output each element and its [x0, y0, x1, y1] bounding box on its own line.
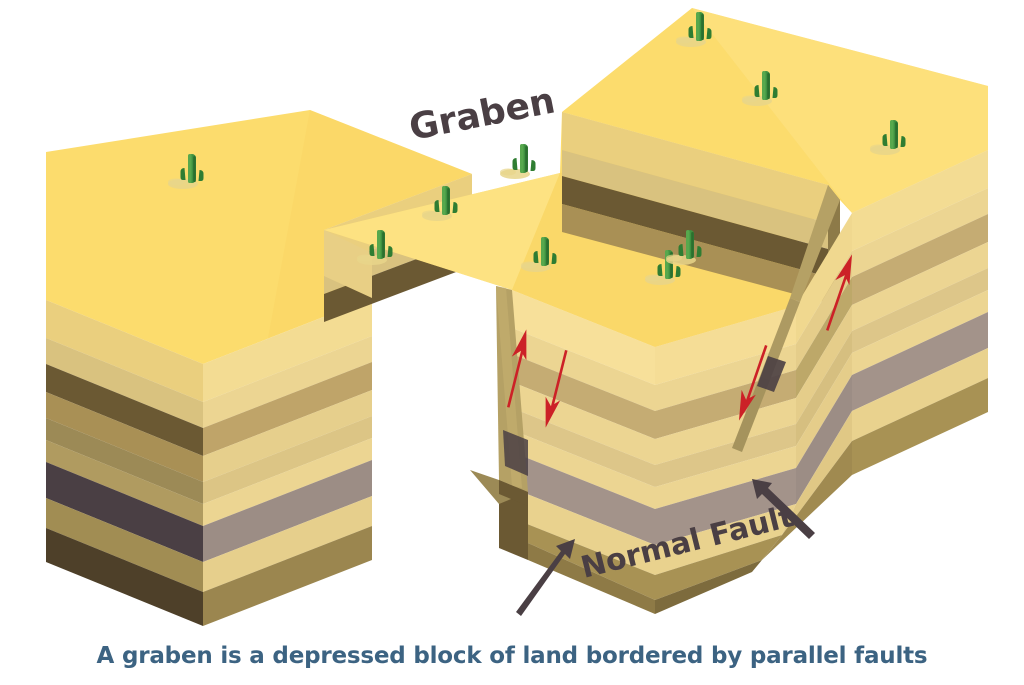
diagram-root: Graben Normal Fault A graben is a depres…: [0, 0, 1024, 685]
cactus-icon: [500, 144, 536, 179]
left-footwall-block[interactable]: [46, 110, 472, 626]
figure-caption: A graben is a depressed block of land bo…: [0, 643, 1024, 669]
graben-illustration: Graben Normal Fault: [0, 0, 1024, 685]
graben-label: Graben: [406, 80, 559, 148]
